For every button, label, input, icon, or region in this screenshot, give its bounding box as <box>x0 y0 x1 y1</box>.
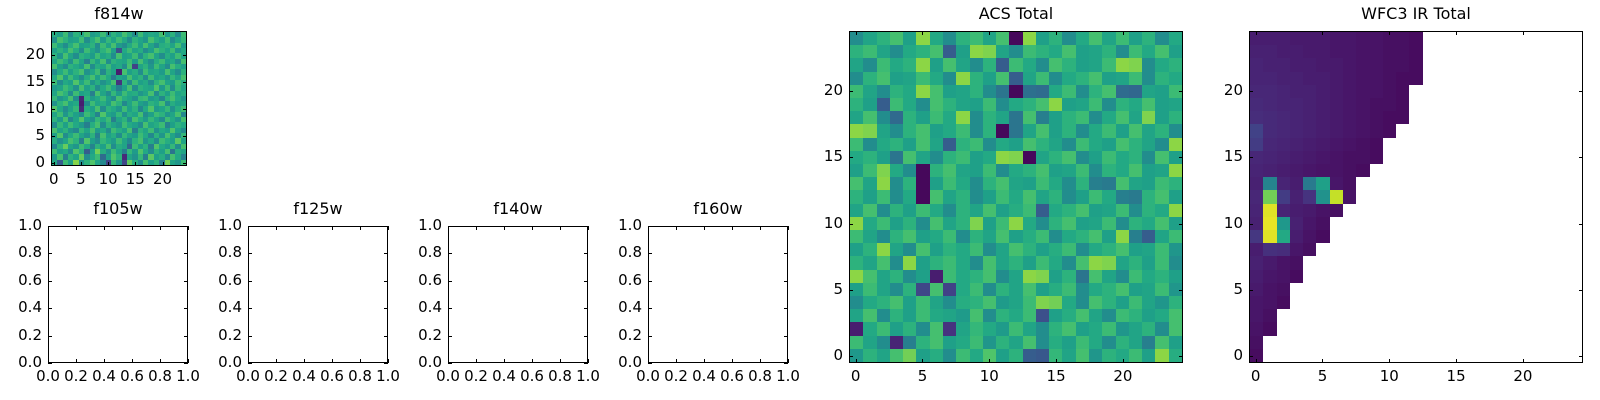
xtick-label: 15 <box>1026 369 1086 384</box>
heat-cell <box>1155 72 1168 85</box>
heat-cell <box>1129 111 1142 124</box>
xtick-mark-top <box>1322 31 1323 35</box>
xtick-mark-top <box>922 31 923 35</box>
heat-cell <box>956 217 969 230</box>
heat-cell <box>1569 243 1582 256</box>
ytick-mark-right <box>1579 157 1583 158</box>
heat-cell <box>1250 45 1263 58</box>
heat-cell <box>956 58 969 71</box>
heat-cell <box>1062 204 1075 217</box>
heat-cell <box>1476 336 1489 349</box>
heat-cell <box>1036 151 1049 164</box>
heat-cell <box>1102 309 1115 322</box>
heat-cell <box>1089 309 1102 322</box>
heat-cell <box>1555 72 1568 85</box>
heat-cell <box>1303 349 1316 362</box>
heat-cell <box>1076 243 1089 256</box>
heat-cell <box>983 230 996 243</box>
heat-cell <box>1343 45 1356 58</box>
heat-cell <box>1542 256 1555 269</box>
heat-cell <box>1436 296 1449 309</box>
heat-cell <box>1036 283 1049 296</box>
heat-cell <box>1102 151 1115 164</box>
heat-cell <box>1489 124 1502 137</box>
heat-cell <box>1476 151 1489 164</box>
heat-cell <box>1009 124 1022 137</box>
heat-cell <box>1102 190 1115 203</box>
ytick-label: 0.2 <box>182 328 242 343</box>
heat-cell <box>1009 164 1022 177</box>
heat-cell <box>970 177 983 190</box>
ytick-mark <box>849 91 853 92</box>
heat-cell <box>1263 217 1276 230</box>
heat-cell <box>943 164 956 177</box>
heat-cell <box>1409 349 1422 362</box>
heat-cell <box>1169 309 1182 322</box>
heat-cell <box>1155 217 1168 230</box>
heat-cell <box>1569 45 1582 58</box>
heat-cell <box>877 309 890 322</box>
heat-cell <box>956 124 969 137</box>
heat-cell <box>1023 309 1036 322</box>
heat-cell <box>1250 230 1263 243</box>
heat-cell <box>1542 230 1555 243</box>
heat-cell <box>1277 58 1290 71</box>
ytick-mark-right <box>1579 91 1583 92</box>
heat-cell <box>1263 309 1276 322</box>
heat-cell <box>1142 190 1155 203</box>
heat-cell <box>1529 217 1542 230</box>
heat-cell <box>1569 256 1582 269</box>
heat-cell <box>1250 243 1263 256</box>
heat-cell <box>1316 309 1329 322</box>
heat-cell <box>1076 32 1089 45</box>
ytick-label: 0.0 <box>0 355 42 370</box>
heat-cell <box>877 164 890 177</box>
ytick-label: 0.8 <box>582 245 642 260</box>
heat-cell <box>1489 256 1502 269</box>
heat-cell <box>943 270 956 283</box>
heat-cell <box>1516 243 1529 256</box>
heat-cell <box>1102 270 1115 283</box>
heat-cell <box>1250 296 1263 309</box>
heat-cell <box>943 322 956 335</box>
heat-cell <box>996 98 1009 111</box>
heat-cell <box>1516 296 1529 309</box>
panel-title-f814w: f814w <box>51 6 187 22</box>
xtick-label: 15 <box>1426 369 1486 384</box>
heat-cell <box>996 85 1009 98</box>
xtick-mark-top <box>108 31 109 35</box>
heat-cell <box>890 72 903 85</box>
heat-cell <box>983 111 996 124</box>
heat-cell <box>1142 111 1155 124</box>
heat-cell <box>1476 243 1489 256</box>
heat-cell <box>1555 85 1568 98</box>
heat-cell <box>1023 45 1036 58</box>
heat-cell <box>1263 58 1276 71</box>
heat-cell <box>1343 270 1356 283</box>
ytick-mark <box>48 253 52 254</box>
heat-cell <box>1489 138 1502 151</box>
xtick-mark-top <box>1123 31 1124 35</box>
heat-cell <box>1449 283 1462 296</box>
heat-cell <box>903 151 916 164</box>
heat-cell <box>1303 111 1316 124</box>
heat-cell <box>1316 111 1329 124</box>
ytick-mark <box>248 226 252 227</box>
ytick-label: 15 <box>783 149 843 164</box>
heat-cell <box>1502 217 1515 230</box>
heat-cell <box>930 243 943 256</box>
heat-cell <box>956 309 969 322</box>
heat-cell <box>1089 164 1102 177</box>
ytick-mark <box>648 363 652 364</box>
heat-cell <box>1569 270 1582 283</box>
heat-cell <box>850 58 863 71</box>
heat-cell <box>1277 164 1290 177</box>
ytick-mark <box>248 253 252 254</box>
heat-cell <box>1502 85 1515 98</box>
heat-cell <box>877 45 890 58</box>
heat-cell <box>1529 98 1542 111</box>
heat-cell <box>1129 85 1142 98</box>
heat-cell <box>1529 349 1542 362</box>
heat-cell <box>1370 164 1383 177</box>
heat-cell <box>1036 32 1049 45</box>
heat-cell <box>1102 72 1115 85</box>
heat-cell <box>1436 270 1449 283</box>
heat-cell <box>1263 98 1276 111</box>
heat-cell <box>1062 190 1075 203</box>
heat-cell <box>1542 283 1555 296</box>
heat-cell <box>956 72 969 85</box>
heat-cell <box>877 349 890 362</box>
heat-cell <box>970 296 983 309</box>
heat-cell <box>983 204 996 217</box>
heat-cell <box>1062 85 1075 98</box>
heat-cell <box>1516 256 1529 269</box>
heat-cell <box>1436 204 1449 217</box>
heat-cell <box>1076 336 1089 349</box>
matplotlib-figure: f814w0510152005101520f105w0.00.20.40.60.… <box>0 0 1600 400</box>
heat-cell <box>1303 283 1316 296</box>
heat-cell <box>1462 85 1475 98</box>
heat-cell <box>1169 256 1182 269</box>
heat-cell <box>1062 256 1075 269</box>
heat-cell <box>863 230 876 243</box>
ytick-mark <box>648 226 652 227</box>
heat-cell <box>930 124 943 137</box>
heat-cell <box>1423 98 1436 111</box>
heat-cell <box>996 283 1009 296</box>
heat-cell <box>1436 190 1449 203</box>
heat-cell <box>1089 204 1102 217</box>
heat-cell <box>1277 190 1290 203</box>
heat-cell <box>1542 204 1555 217</box>
ytick-label: 0 <box>783 348 843 363</box>
heat-cell <box>1155 151 1168 164</box>
heat-cell <box>956 256 969 269</box>
heat-cell <box>1076 270 1089 283</box>
heat-cell <box>930 45 943 58</box>
heat-cell <box>1423 336 1436 349</box>
ytick-label: 0.0 <box>182 355 242 370</box>
heat-cell <box>983 322 996 335</box>
heat-cell <box>1529 111 1542 124</box>
heat-cell <box>1489 98 1502 111</box>
heat-cell <box>1436 45 1449 58</box>
heat-cell <box>1129 58 1142 71</box>
heat-cell <box>1370 270 1383 283</box>
ytick-label: 1.0 <box>382 218 442 233</box>
heat-cell <box>1155 111 1168 124</box>
heat-cell <box>1009 72 1022 85</box>
heat-cell <box>1102 85 1115 98</box>
heat-cell <box>1476 204 1489 217</box>
heat-cell <box>1169 32 1182 45</box>
heat-cell <box>1542 32 1555 45</box>
heat-cell <box>1169 322 1182 335</box>
heat-cell <box>1169 138 1182 151</box>
heat-cell <box>916 336 929 349</box>
heat-cell <box>1009 322 1022 335</box>
ytick-label: 1.0 <box>582 218 642 233</box>
heat-cell <box>996 138 1009 151</box>
heat-cell <box>1449 243 1462 256</box>
heat-cell <box>1555 256 1568 269</box>
heat-cell <box>1142 98 1155 111</box>
heat-cell <box>1343 217 1356 230</box>
heat-cell <box>1049 98 1062 111</box>
heat-cell <box>996 256 1009 269</box>
ytick-mark <box>51 55 55 56</box>
heat-cell <box>1290 309 1303 322</box>
panel-title-f140w: f140w <box>448 201 588 217</box>
heat-cell <box>1409 151 1422 164</box>
heat-cell <box>1330 349 1343 362</box>
heat-cell <box>1462 138 1475 151</box>
heat-cell <box>1009 309 1022 322</box>
heat-cell <box>1409 190 1422 203</box>
ytick-label: 0.8 <box>382 245 442 260</box>
heat-cell <box>1062 230 1075 243</box>
heat-cell <box>1049 124 1062 137</box>
heat-cell <box>1502 270 1515 283</box>
heat-cell <box>1423 349 1436 362</box>
heat-cell <box>1116 151 1129 164</box>
heat-cell <box>1142 230 1155 243</box>
ytick-mark-right <box>183 136 187 137</box>
heat-cell <box>1036 296 1049 309</box>
heat-cell <box>1409 58 1422 71</box>
heat-cell <box>1529 243 1542 256</box>
heat-cell <box>1330 138 1343 151</box>
heat-cell <box>916 204 929 217</box>
heat-cell <box>930 270 943 283</box>
heat-cell <box>1049 243 1062 256</box>
heat-cell <box>1250 309 1263 322</box>
heat-cell <box>1009 85 1022 98</box>
heat-cell <box>1555 309 1568 322</box>
heat-cell <box>1529 45 1542 58</box>
xtick-mark <box>304 359 305 363</box>
heat-cell <box>863 256 876 269</box>
heat-cell <box>983 124 996 137</box>
heat-cell <box>1542 349 1555 362</box>
heat-cell <box>1330 151 1343 164</box>
heat-cell <box>1370 124 1383 137</box>
heat-cell <box>1489 283 1502 296</box>
heat-cell <box>1529 32 1542 45</box>
ytick-mark-right <box>1579 224 1583 225</box>
heat-cell <box>1102 322 1115 335</box>
heat-cell <box>956 243 969 256</box>
heat-cell <box>1089 349 1102 362</box>
heat-cell <box>1129 336 1142 349</box>
xtick-mark <box>1123 359 1124 363</box>
heat-cell <box>1102 32 1115 45</box>
heat-cell <box>1436 336 1449 349</box>
heat-cell <box>1356 111 1369 124</box>
heat-cell <box>1116 204 1129 217</box>
heat-cell <box>850 111 863 124</box>
heat-cell <box>983 270 996 283</box>
xtick-mark-top <box>276 226 277 230</box>
heat-cell <box>1449 124 1462 137</box>
heat-cell <box>1062 322 1075 335</box>
heat-cell <box>850 230 863 243</box>
heat-cell <box>1263 111 1276 124</box>
heat-cell <box>1155 32 1168 45</box>
heat-cell <box>1277 45 1290 58</box>
heat-cell <box>877 243 890 256</box>
heat-cell <box>1542 177 1555 190</box>
heat-cell <box>1330 322 1343 335</box>
heat-cell <box>1316 217 1329 230</box>
heat-cell <box>890 336 903 349</box>
heat-cell <box>1076 58 1089 71</box>
heat-cell <box>916 111 929 124</box>
heat-cell <box>890 256 903 269</box>
heat-cell <box>1409 45 1422 58</box>
heat-cell <box>983 190 996 203</box>
heat-cell <box>1542 270 1555 283</box>
heat-cell <box>1049 256 1062 269</box>
heat-cell <box>1383 204 1396 217</box>
ytick-mark-right <box>183 109 187 110</box>
heat-cell <box>1449 58 1462 71</box>
heat-cell <box>1303 177 1316 190</box>
heat-cell <box>943 151 956 164</box>
heat-cell <box>1555 45 1568 58</box>
ytick-label: 0.2 <box>0 328 42 343</box>
heat-cell <box>1343 164 1356 177</box>
heat-cell <box>1555 32 1568 45</box>
heat-cell <box>1330 85 1343 98</box>
heat-cell <box>916 72 929 85</box>
xtick-mark-top <box>760 226 761 230</box>
heat-cell <box>1423 177 1436 190</box>
heat-cell <box>1290 138 1303 151</box>
heat-cell <box>1330 217 1343 230</box>
heat-cell <box>1155 309 1168 322</box>
heat-cell <box>1290 243 1303 256</box>
heat-cell <box>1023 336 1036 349</box>
ytick-mark <box>1249 290 1253 291</box>
heat-cell <box>1555 336 1568 349</box>
heat-cell <box>1290 85 1303 98</box>
heat-cell <box>916 58 929 71</box>
heat-cell <box>1383 85 1396 98</box>
heat-cell <box>1089 243 1102 256</box>
heat-cell <box>1049 270 1062 283</box>
heat-cell <box>1263 138 1276 151</box>
xtick-mark-top <box>332 226 333 230</box>
heat-cell <box>863 177 876 190</box>
heat-cell <box>1250 177 1263 190</box>
heat-cell <box>943 72 956 85</box>
heat-cell <box>1436 32 1449 45</box>
xtick-mark <box>132 359 133 363</box>
heat-cell <box>1502 164 1515 177</box>
heat-cell <box>1409 217 1422 230</box>
heat-cell <box>943 45 956 58</box>
heat-cell <box>1089 230 1102 243</box>
heat-cell <box>1076 322 1089 335</box>
heat-cell <box>1250 204 1263 217</box>
heat-cell <box>1343 190 1356 203</box>
heat-cell <box>1423 309 1436 322</box>
heat-cell <box>1516 138 1529 151</box>
heat-cell <box>996 309 1009 322</box>
heat-cell <box>1290 349 1303 362</box>
heat-cell <box>1316 296 1329 309</box>
heat-cell <box>1155 270 1168 283</box>
heat-cell <box>956 32 969 45</box>
heat-cell <box>1116 164 1129 177</box>
heat-cell <box>956 138 969 151</box>
ytick-mark-right <box>1579 290 1583 291</box>
heat-cell <box>1155 98 1168 111</box>
heat-cell <box>1330 111 1343 124</box>
heat-cell <box>1129 151 1142 164</box>
xtick-mark-top <box>1456 31 1457 35</box>
heat-cell <box>1383 230 1396 243</box>
heat-cell <box>850 243 863 256</box>
heat-cell <box>850 138 863 151</box>
heat-cell <box>1277 32 1290 45</box>
heat-cell <box>1462 45 1475 58</box>
heat-cell <box>930 336 943 349</box>
xtick-mark-top <box>1389 31 1390 35</box>
heat-cell <box>1462 230 1475 243</box>
heat-cell <box>1502 45 1515 58</box>
heat-cell <box>1569 32 1582 45</box>
heat-cell <box>1263 164 1276 177</box>
heat-cell <box>1529 190 1542 203</box>
heat-cell <box>1409 309 1422 322</box>
heat-cell <box>1396 85 1409 98</box>
heat-cell <box>970 98 983 111</box>
heat-cell <box>1250 72 1263 85</box>
heat-cell <box>1555 111 1568 124</box>
heat-cell <box>1383 283 1396 296</box>
xtick-mark <box>856 359 857 363</box>
ytick-mark <box>448 336 452 337</box>
heat-cell <box>1370 336 1383 349</box>
heat-cell <box>1142 217 1155 230</box>
